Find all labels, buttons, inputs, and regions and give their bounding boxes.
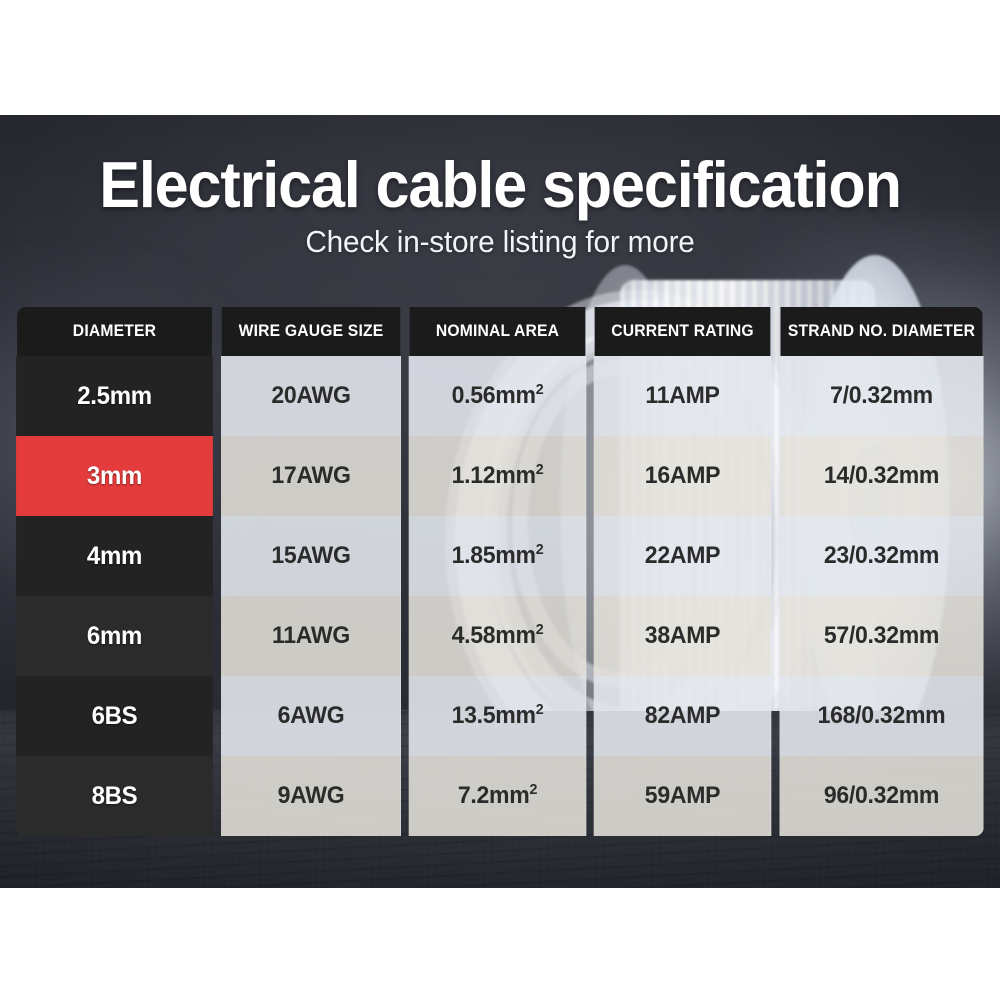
cell-nominal-area: 1.12mm2	[409, 436, 587, 516]
cable-specification-table: DIAMETER WIRE GAUGE SIZE NOMINAL AREA CU…	[12, 307, 988, 836]
cell-wire-gauge: 15AWG	[221, 516, 401, 596]
nominal-area-value: 7.2mm	[458, 782, 530, 809]
cell-nominal-area: 1.85mm2	[409, 516, 587, 596]
table-row[interactable]: 6BS6AWG13.5mm282AMP168/0.32mm	[12, 676, 988, 756]
cell-nominal-area: 13.5mm2	[409, 676, 587, 756]
cell-diameter: 6mm	[16, 596, 213, 676]
nominal-area-value: 1.85mm	[452, 542, 536, 569]
cell-current-rating: 82AMP	[594, 676, 772, 756]
cell-diameter: 8BS	[16, 756, 213, 836]
column-header-gauge: WIRE GAUGE SIZE	[222, 307, 401, 356]
cell-nominal-area: 0.56mm2	[409, 356, 587, 436]
table-header: DIAMETER WIRE GAUGE SIZE NOMINAL AREA CU…	[12, 307, 988, 356]
column-header-diameter: DIAMETER	[17, 307, 212, 356]
nominal-area-value: 4.58mm	[452, 622, 536, 649]
nominal-area-value: 1.12mm	[452, 462, 536, 489]
table-row[interactable]: 2.5mm20AWG0.56mm211AMP7/0.32mm	[12, 356, 988, 436]
nominal-area-value: 0.56mm	[452, 382, 536, 409]
cell-wire-gauge: 11AWG	[221, 596, 401, 676]
table-row[interactable]: 3mm17AWG1.12mm216AMP14/0.32mm	[12, 436, 988, 516]
cell-diameter: 2.5mm	[16, 356, 213, 436]
cell-wire-gauge: 20AWG	[221, 356, 401, 436]
cell-nominal-area: 4.58mm2	[409, 596, 587, 676]
table-row[interactable]: 6mm11AWG4.58mm238AMP57/0.32mm	[12, 596, 988, 676]
table-header-row: DIAMETER WIRE GAUGE SIZE NOMINAL AREA CU…	[12, 307, 988, 356]
nominal-area-exponent: 2	[536, 542, 544, 558]
column-header-area: NOMINAL AREA	[410, 307, 586, 356]
cell-current-rating: 59AMP	[594, 756, 772, 836]
table-body: 2.5mm20AWG0.56mm211AMP7/0.32mm3mm17AWG1.…	[12, 356, 988, 836]
cell-current-rating: 38AMP	[594, 596, 772, 676]
cell-strand-diameter: 7/0.32mm	[779, 356, 983, 436]
cell-current-rating: 22AMP	[594, 516, 772, 596]
cell-strand-diameter: 168/0.32mm	[779, 676, 983, 756]
cell-diameter: 6BS	[16, 676, 213, 756]
cell-strand-diameter: 14/0.32mm	[779, 436, 983, 516]
page-title: Electrical cable specification	[30, 152, 970, 218]
table-row[interactable]: 4mm15AWG1.85mm222AMP23/0.32mm	[12, 516, 988, 596]
cell-strand-diameter: 96/0.32mm	[779, 756, 983, 836]
column-header-strand: STRAND NO. DIAMETER	[780, 307, 982, 356]
nominal-area-value: 13.5mm	[452, 702, 536, 729]
cell-current-rating: 16AMP	[594, 436, 772, 516]
product-infographic: Electrical cable specification Check in-…	[0, 0, 1000, 1000]
nominal-area-exponent: 2	[529, 782, 537, 798]
headline-block: Electrical cable specification Check in-…	[0, 152, 1000, 260]
spec-table-wrapper: DIAMETER WIRE GAUGE SIZE NOMINAL AREA CU…	[12, 307, 988, 836]
nominal-area-exponent: 2	[536, 702, 544, 718]
nominal-area-exponent: 2	[536, 382, 544, 398]
cell-strand-diameter: 57/0.32mm	[779, 596, 983, 676]
cell-wire-gauge: 6AWG	[221, 676, 401, 756]
cell-current-rating: 11AMP	[594, 356, 772, 436]
column-header-current: CURRENT RATING	[595, 307, 771, 356]
cell-wire-gauge: 9AWG	[221, 756, 401, 836]
nominal-area-exponent: 2	[536, 462, 544, 478]
cell-wire-gauge: 17AWG	[221, 436, 401, 516]
cell-diameter: 4mm	[16, 516, 213, 596]
cell-diameter: 3mm	[16, 436, 213, 516]
nominal-area-exponent: 2	[536, 622, 544, 638]
table-row[interactable]: 8BS9AWG7.2mm259AMP96/0.32mm	[12, 756, 988, 836]
cell-strand-diameter: 23/0.32mm	[779, 516, 983, 596]
page-subtitle: Check in-store listing for more	[20, 224, 980, 260]
cell-nominal-area: 7.2mm2	[409, 756, 587, 836]
